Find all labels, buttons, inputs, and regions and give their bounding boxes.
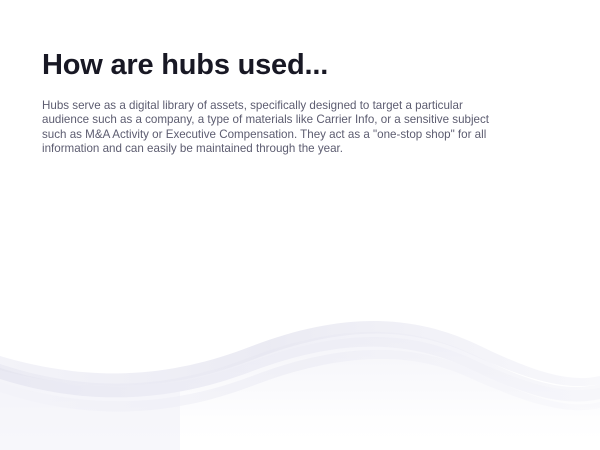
wave-decoration — [0, 300, 600, 450]
slide-content: How are hubs used... Hubs serve as a dig… — [42, 48, 502, 157]
slide-body-paragraph: Hubs serve as a digital library of asset… — [42, 82, 494, 157]
slide-canvas: How are hubs used... Hubs serve as a dig… — [0, 0, 600, 450]
wave-strand-faint — [0, 350, 600, 412]
wave-left-wash — [0, 370, 180, 450]
page-title: How are hubs used... — [42, 48, 502, 82]
wave-strand-primary — [0, 332, 600, 402]
wave-band-fill — [0, 337, 600, 450]
wave-strand-secondary — [0, 321, 600, 386]
